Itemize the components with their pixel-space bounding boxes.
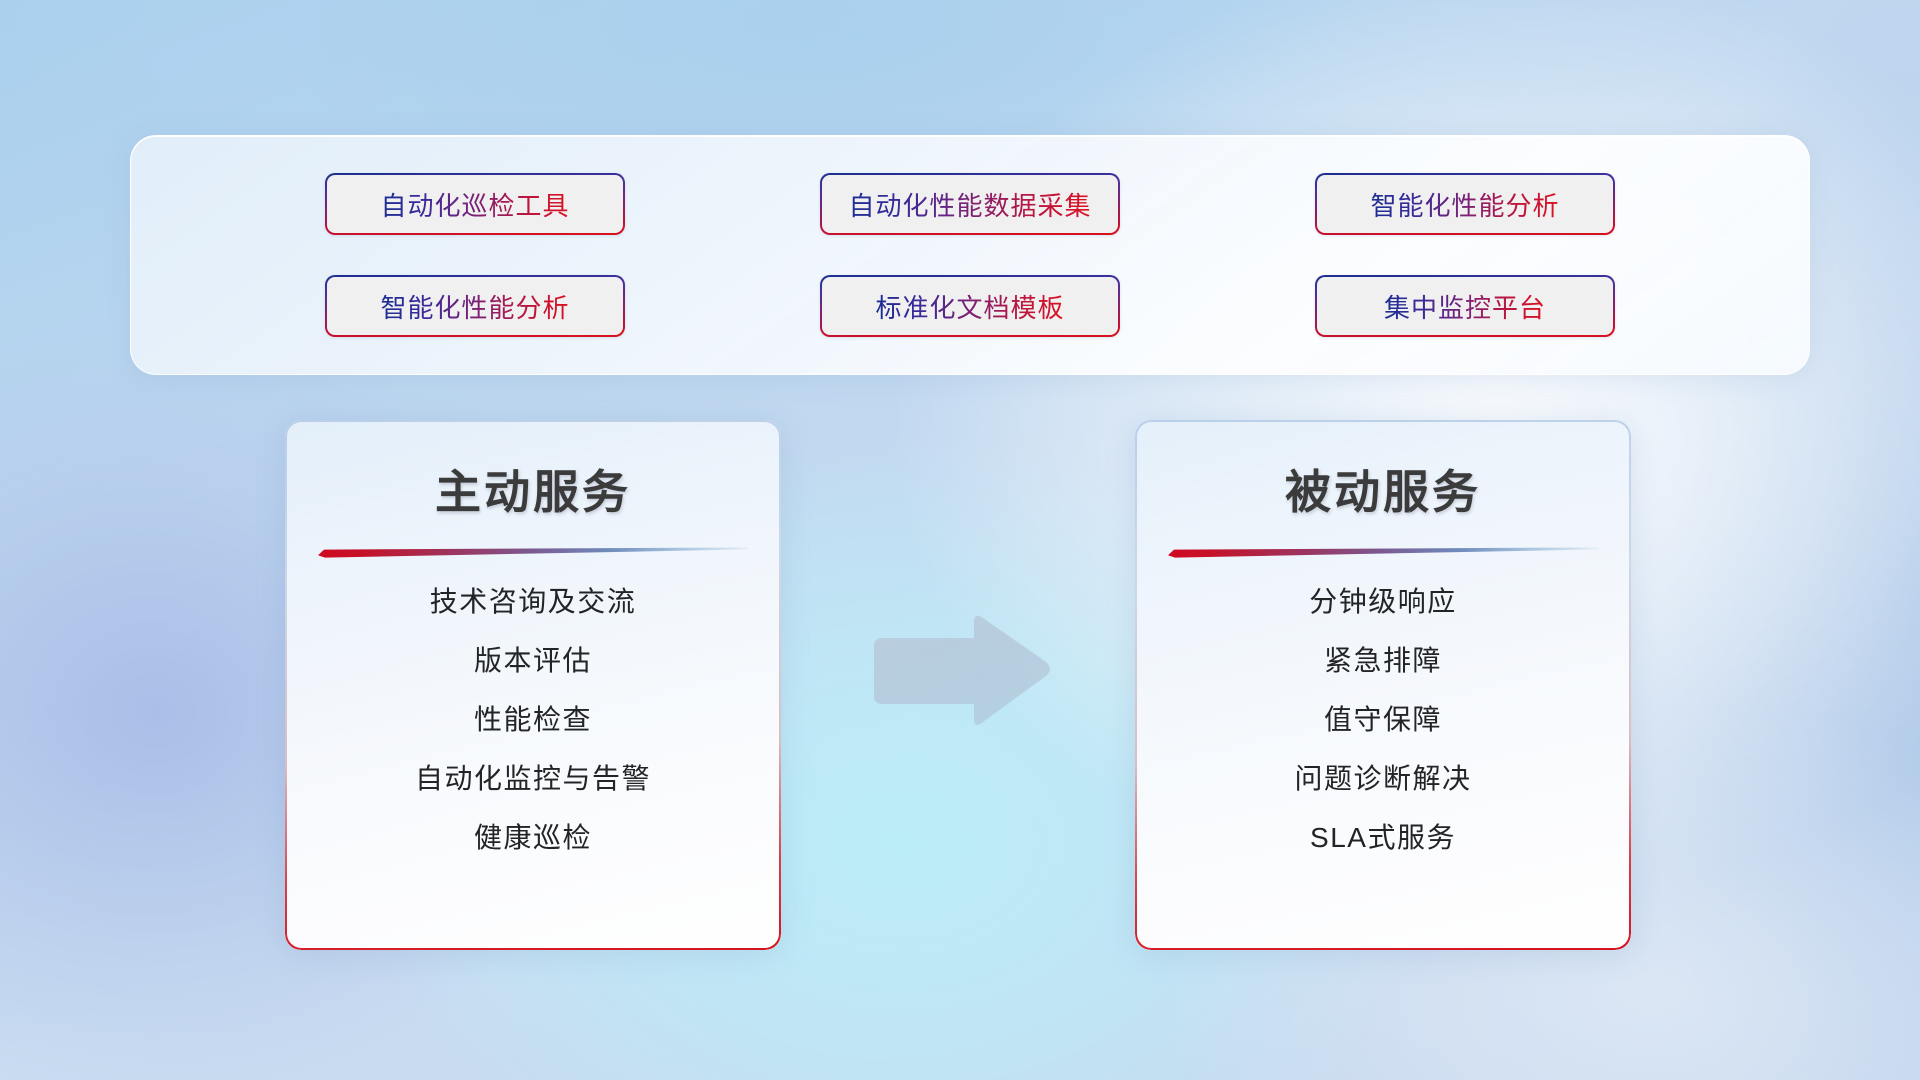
diagram-canvas: 自动化巡检工具 自动化性能数据采集 智能化性能分析 智能化性能分析 标准化文档模… bbox=[0, 0, 1920, 1080]
capability-pill-label: 标准化文档模板 bbox=[875, 288, 1064, 325]
capability-pill[interactable]: 自动化性能数据采集 bbox=[820, 173, 1120, 235]
list-item: 分钟级响应 bbox=[1309, 584, 1457, 619]
capability-pill-label: 自动化性能数据采集 bbox=[848, 186, 1091, 223]
service-card-proactive: 主动服务 技术咨询及交流 版本评估 bbox=[285, 420, 781, 950]
capability-pill[interactable]: 智能化性能分析 bbox=[325, 275, 625, 337]
service-card-reactive: 被动服务 分钟级响应 紧急排障 bbox=[1135, 420, 1631, 950]
list-item: 值守保障 bbox=[1324, 702, 1442, 737]
list-item: 问题诊断解决 bbox=[1294, 761, 1471, 796]
capability-pill-label: 自动化巡检工具 bbox=[380, 186, 569, 223]
capability-pill[interactable]: 集中监控平台 bbox=[1315, 275, 1615, 337]
card-divider bbox=[318, 546, 748, 558]
service-list: 分钟级响应 紧急排障 值守保障 问题诊断解决 SLA式服务 bbox=[1135, 584, 1631, 855]
list-item: 紧急排障 bbox=[1324, 643, 1442, 678]
capability-pill-label: 智能化性能分析 bbox=[380, 288, 569, 325]
list-item: 健康巡检 bbox=[474, 820, 592, 855]
capability-pill-label: 集中监控平台 bbox=[1384, 288, 1546, 325]
list-item: 自动化监控与告警 bbox=[415, 761, 651, 796]
card-title: 主动服务 bbox=[285, 456, 781, 522]
list-item: 版本评估 bbox=[474, 643, 592, 678]
card-title: 被动服务 bbox=[1135, 456, 1631, 522]
capability-pill-label: 智能化性能分析 bbox=[1370, 186, 1559, 223]
list-item: 性能检查 bbox=[474, 702, 592, 737]
list-item: SLA式服务 bbox=[1310, 820, 1456, 855]
flow-arrow-right-icon bbox=[868, 612, 1054, 730]
service-list: 技术咨询及交流 版本评估 性能检查 自动化监控与告警 健康巡检 bbox=[285, 584, 781, 855]
card-divider bbox=[1168, 546, 1598, 558]
capability-pill[interactable]: 自动化巡检工具 bbox=[325, 173, 625, 235]
capability-panel: 自动化巡检工具 自动化性能数据采集 智能化性能分析 智能化性能分析 标准化文档模… bbox=[130, 135, 1810, 375]
list-item: 技术咨询及交流 bbox=[430, 584, 637, 619]
capability-pill[interactable]: 标准化文档模板 bbox=[820, 275, 1120, 337]
capability-pill[interactable]: 智能化性能分析 bbox=[1315, 173, 1615, 235]
capability-pill-grid: 自动化巡检工具 自动化性能数据采集 智能化性能分析 智能化性能分析 标准化文档模… bbox=[325, 173, 1615, 337]
